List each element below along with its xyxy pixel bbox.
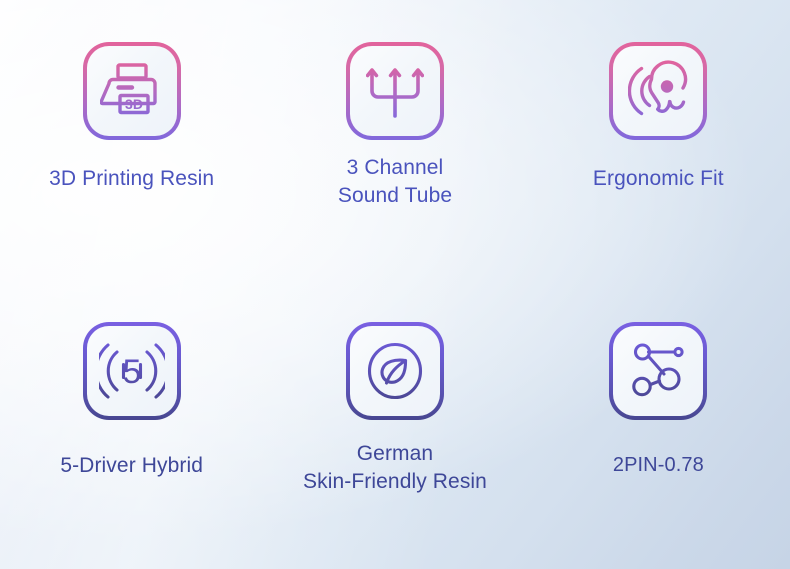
feature-label: 3D Printing Resin [49, 165, 214, 193]
feature-card-skin-friendly-resin[interactable]: German Skin-Friendly Resin [263, 285, 526, 569]
feature-grid: 3D 3D Printing Resin [0, 0, 790, 569]
node-network-connector-icon [609, 322, 707, 420]
feature-card-printing-resin[interactable]: 3D 3D Printing Resin [0, 0, 263, 285]
driver-count-text: 5 [122, 353, 141, 391]
feature-card-driver-hybrid[interactable]: 5 5-Driver Hybrid [0, 285, 263, 569]
ear-acoustic-icon [609, 42, 707, 140]
trident-sound-tube-icon [346, 42, 444, 140]
feature-card-connector[interactable]: 2PIN-0.78 [527, 285, 790, 569]
printer-3d-icon: 3D [83, 42, 181, 140]
feature-label: Ergonomic Fit [593, 165, 724, 193]
feature-label: German Skin-Friendly Resin [303, 440, 487, 496]
feature-card-ergonomic-fit[interactable]: Ergonomic Fit [527, 0, 790, 285]
feature-label: 5-Driver Hybrid [60, 452, 203, 480]
five-driver-waves-icon: 5 [83, 322, 181, 420]
feature-label: 3 Channel Sound Tube [338, 154, 452, 210]
leaf-circle-icon [346, 322, 444, 420]
printer-badge-text: 3D [125, 96, 143, 112]
feature-label: 2PIN-0.78 [613, 451, 704, 479]
feature-card-sound-tube[interactable]: 3 Channel Sound Tube [263, 0, 526, 285]
